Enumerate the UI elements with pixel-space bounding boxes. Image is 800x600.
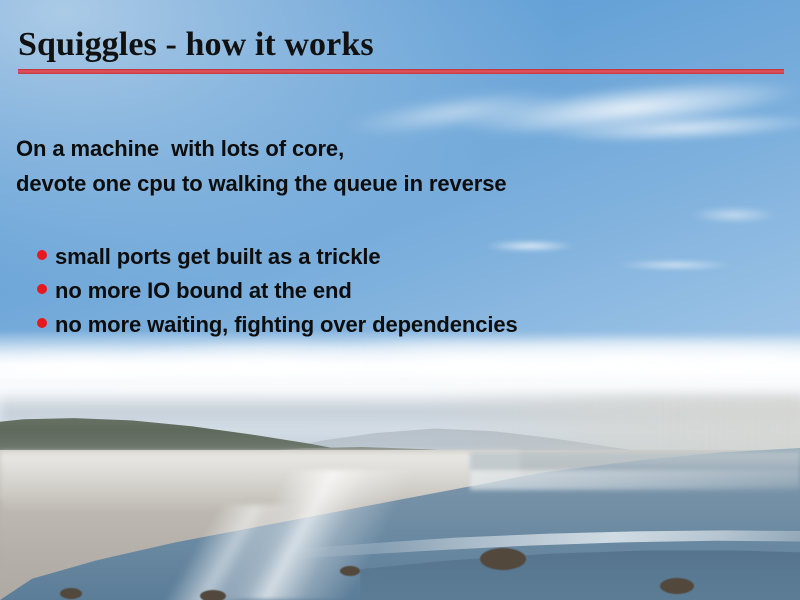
list-item: small ports get built as a trickle (37, 240, 767, 274)
list-item: no more IO bound at the end (37, 274, 767, 308)
list-item-label: no more IO bound at the end (55, 274, 352, 308)
body-line: devote one cpu to walking the queue in r… (16, 166, 776, 201)
title-underline-rule (18, 69, 784, 74)
slide-title: Squiggles - how it works (18, 26, 374, 64)
slide-body-text: On a machine with lots of core, devote o… (16, 131, 776, 201)
list-item-label: no more waiting, fighting over dependenc… (55, 308, 518, 342)
slide-bullet-list: small ports get built as a trickle no mo… (37, 240, 767, 342)
small-cloud (690, 205, 800, 225)
body-line: On a machine with lots of core, (16, 131, 776, 166)
wave-crest (470, 470, 800, 490)
kelp-clump (60, 588, 82, 599)
kelp-clump (480, 548, 526, 570)
bullet-dot-icon (37, 284, 47, 294)
kelp-clump (200, 590, 226, 600)
list-item: no more waiting, fighting over dependenc… (37, 308, 767, 342)
kelp-clump (340, 566, 360, 576)
kelp-clump (660, 578, 694, 594)
bullet-dot-icon (37, 250, 47, 260)
bullet-dot-icon (37, 318, 47, 328)
list-item-label: small ports get built as a trickle (55, 240, 380, 274)
presentation-slide: Squiggles - how it works On a machine wi… (0, 0, 800, 600)
cloud-bank-crest (0, 338, 800, 378)
